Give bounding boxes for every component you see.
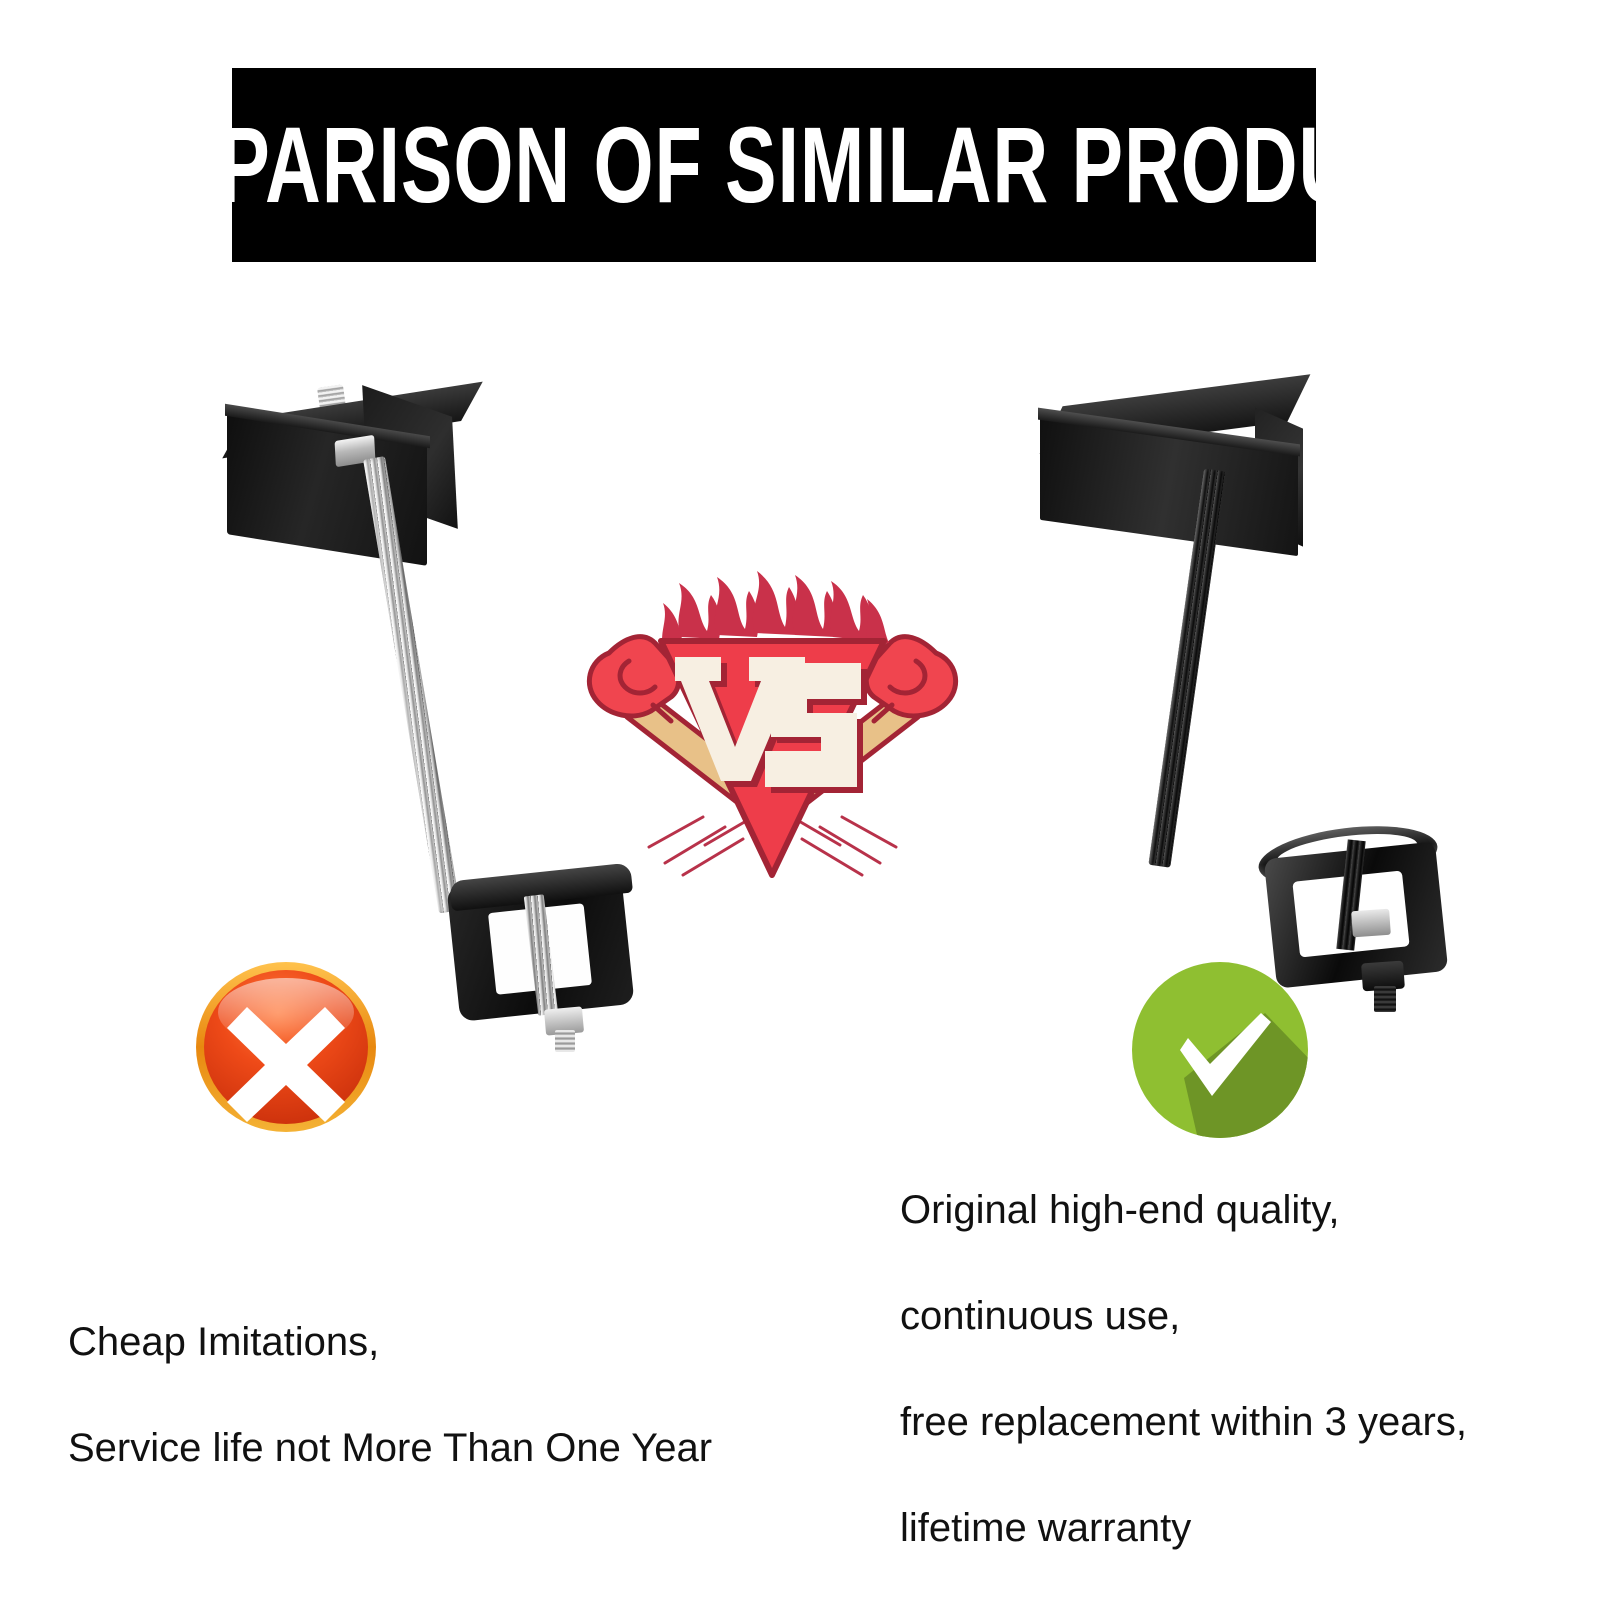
page-title: COMPARISON OF SIMILAR PRODUCTS (35, 111, 1512, 219)
check-mark-icon (1128, 958, 1312, 1142)
right-tool-bottom-bolt-tip (1374, 986, 1396, 1012)
title-banner: COMPARISON OF SIMILAR PRODUCTS (232, 68, 1316, 262)
left-caption: Cheap Imitations, Service life not More … (68, 1322, 712, 1468)
right-caption-line-2: continuous use, (900, 1296, 1467, 1336)
right-caption-line-4: lifetime warranty (900, 1508, 1467, 1548)
flame-icon (662, 571, 889, 649)
comparison-infographic: COMPARISON OF SIMILAR PRODUCTS (0, 0, 1600, 1600)
cross-mark-icon (194, 960, 378, 1134)
left-caption-line-2: Service life not More Than One Year (68, 1428, 712, 1468)
left-tool-bottom-bolt-tip (555, 1030, 575, 1052)
left-caption-line-1: Cheap Imitations, (68, 1322, 712, 1362)
right-caption-line-3: free replacement within 3 years, (900, 1402, 1467, 1442)
right-caption-line-1: Original high-end quality, (900, 1190, 1467, 1230)
right-caption: Original high-end quality, continuous us… (900, 1190, 1467, 1548)
vs-logo (575, 545, 970, 895)
right-tool-hex-nut (1351, 909, 1391, 938)
